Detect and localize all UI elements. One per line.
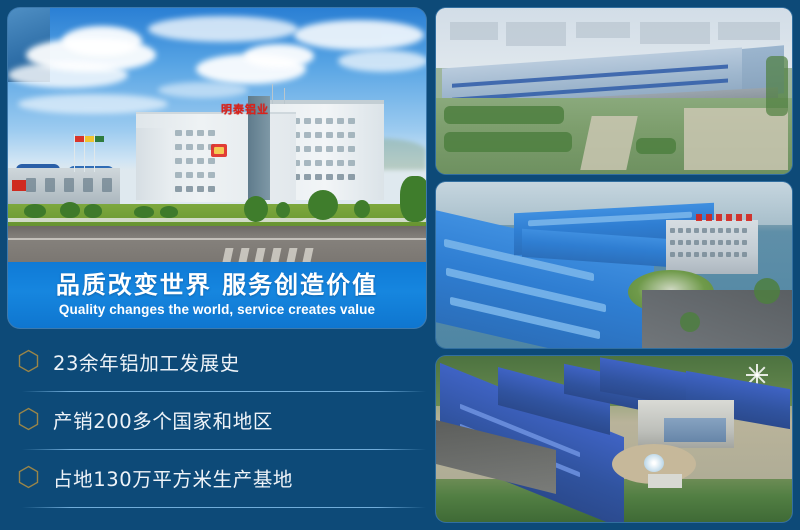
cloud-shape: [148, 16, 298, 42]
kerb-line: [8, 218, 426, 222]
list-item[interactable]: 23余年铝加工发展史: [8, 338, 426, 396]
tree: [244, 196, 268, 222]
slogan-headline-cn: 品质改变世界 服务创造价值: [56, 273, 378, 298]
list-divider: [22, 507, 426, 508]
window-row: [26, 178, 112, 192]
list-item[interactable]: 占地130万平方米生产基地: [8, 454, 426, 512]
cloud-shape: [244, 44, 314, 68]
gallery-panel-blue-roof-workshops[interactable]: [436, 182, 792, 348]
shrub: [60, 202, 80, 218]
hexagon-icon: [18, 465, 39, 489]
skyline-block: [506, 22, 566, 46]
roof-mast: [272, 84, 273, 104]
feature-list: 23余年铝加工发展史 产销200多个国家和地区 占地: [8, 338, 426, 512]
tree: [754, 278, 780, 304]
skyline-block: [450, 22, 498, 40]
window-row: [670, 228, 747, 233]
administration-glass-facade: [664, 418, 726, 442]
list-item-label: 产销200多个国家和地区: [53, 405, 273, 434]
hexagon-icon: [18, 407, 39, 431]
main-gate: [648, 474, 682, 488]
rooftop-red-sign: [696, 214, 752, 221]
list-item-label: 23余年铝加工发展史: [53, 347, 240, 376]
aerial-photo: [436, 182, 792, 348]
gallery-column: [436, 8, 792, 522]
headquarters-photo: 明泰铝业: [8, 8, 426, 262]
shrub: [160, 206, 178, 218]
flag-poles: [74, 134, 110, 172]
gallery-panel-masterplan-render[interactable]: [436, 356, 792, 522]
tree: [308, 190, 338, 220]
office-building-left-wing: [136, 128, 172, 200]
list-divider: [22, 449, 426, 450]
slogan-headline-en: Quality changes the world, service creat…: [59, 302, 375, 317]
office-tower: [666, 220, 758, 274]
shrub: [84, 204, 102, 218]
cloud-shape: [8, 62, 128, 88]
cloud-shape: [294, 20, 424, 50]
tree-belt: [766, 56, 788, 116]
shrub: [134, 206, 154, 218]
hexagon-icon: [18, 349, 39, 373]
list-item[interactable]: 产销200多个国家和地区: [8, 396, 426, 454]
cloud-shape: [338, 50, 426, 72]
road-foreground: [8, 226, 426, 262]
gallery-panel-aerial-modern-plant[interactable]: [436, 8, 792, 174]
list-divider: [22, 391, 426, 392]
fountain: [644, 454, 664, 472]
list-item-label: 占地130万平方米生产基地: [53, 463, 293, 492]
paved-yard: [684, 108, 788, 170]
paved-yard: [580, 116, 637, 170]
cloud-shape: [158, 82, 248, 98]
tree: [354, 200, 370, 218]
window-row: [670, 252, 747, 257]
window-row: [670, 240, 747, 245]
aerial-photo: [436, 8, 792, 174]
tree: [400, 176, 426, 222]
tree: [276, 202, 290, 218]
skyline-block: [640, 22, 710, 44]
slogan-banner: 品质改变世界 服务创造价值 Quality changes the world,…: [8, 262, 426, 328]
roof-mast: [284, 88, 285, 104]
red-signboard: [12, 180, 26, 191]
green-field: [436, 98, 792, 174]
cloud-shape: [62, 26, 142, 56]
tree: [680, 312, 700, 332]
cloud-shape: [18, 94, 168, 114]
shrub: [24, 204, 46, 218]
left-column: 明泰铝业: [8, 8, 426, 522]
promo-page: 明泰铝业: [0, 0, 800, 530]
skyline-block: [718, 22, 780, 40]
skyline-block: [576, 22, 630, 38]
hero-card: 明泰铝业: [8, 8, 426, 328]
company-logo-emblem: [211, 144, 227, 157]
masterplan-render: [436, 356, 792, 522]
